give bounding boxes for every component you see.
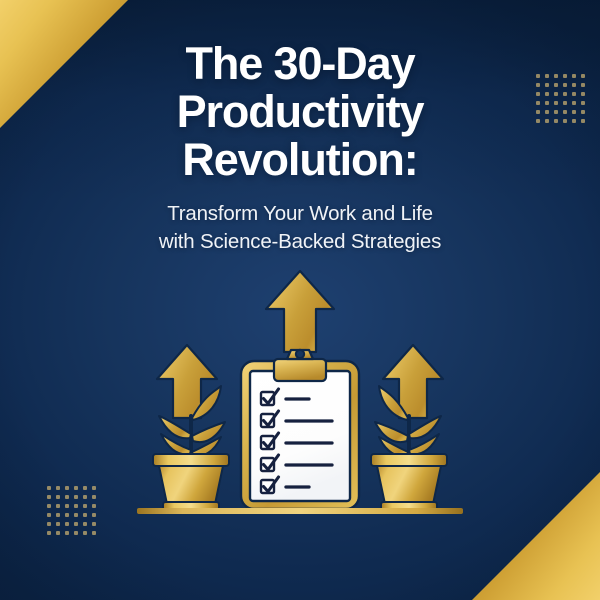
checklist-clipboard [241,349,359,509]
subtitle-line-2: with Science-Backed Strategies [40,228,560,256]
grid-dot [92,531,96,535]
grid-dot [92,513,96,517]
grid-dot [83,504,87,508]
grid-dot [47,504,51,508]
title-line-3: Revolution: [40,136,560,184]
grid-dot [56,522,60,526]
grid-dot [56,486,60,490]
ground-shelf-line [137,508,463,514]
grid-dot [83,522,87,526]
grid-dot [56,513,60,517]
page-title: The 30-Day Productivity Revolution: [40,40,560,184]
grid-dot [92,486,96,490]
title-line-2: Productivity [40,88,560,136]
grid-dot [56,504,60,508]
grid-dot [47,531,51,535]
grid-dot [47,486,51,490]
grid-dot [56,531,60,535]
grid-dot [83,531,87,535]
grid-dot [65,495,69,499]
clipboard-clip [274,349,326,381]
grid-dot [92,495,96,499]
grid-dot [92,522,96,526]
title-line-1: The 30-Day [40,40,560,88]
grid-dot [74,495,78,499]
grid-dot [47,513,51,517]
poster-canvas: The 30-Day Productivity Revolution: Tran… [0,0,600,600]
grid-dot [65,486,69,490]
productivity-growth-illustration [135,266,465,516]
grid-dot [74,486,78,490]
grid-dot [65,531,69,535]
grid-dot [83,486,87,490]
grid-dot [74,504,78,508]
subtitle-line-1: Transform Your Work and Life [40,200,560,228]
grid-dot [92,504,96,508]
grid-dot [65,522,69,526]
grid-dot [65,504,69,508]
gold-corner-triangle-bottom-right [472,472,600,600]
grid-dot [47,522,51,526]
grid-dot [65,513,69,517]
grid-dot [83,513,87,517]
dot-grid-bottom-left [45,484,99,538]
grid-dot [74,531,78,535]
arrow-center [266,271,334,352]
grid-dot [83,495,87,499]
grid-dot [74,513,78,517]
headline-block: The 30-Day Productivity Revolution: Tran… [0,40,600,256]
grid-dot [47,495,51,499]
page-subtitle: Transform Your Work and Life with Scienc… [40,200,560,255]
grid-dot [56,495,60,499]
grid-dot [74,522,78,526]
